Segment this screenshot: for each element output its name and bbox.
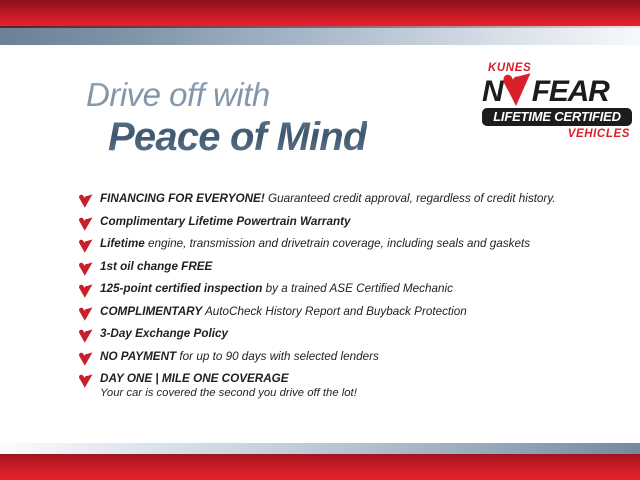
logo-banner-text: LIFETIME CERTIFIED xyxy=(493,109,621,124)
list-item: 3-Day Exchange Policy xyxy=(78,327,588,343)
top-slate-band xyxy=(0,26,640,45)
logo-no-fear-letters: NO FEAR xyxy=(482,76,609,107)
red-heart-check-icon xyxy=(78,374,93,388)
list-item-emphasis: 3-Day Exchange Policy xyxy=(100,327,228,340)
list-item-detail: Guaranteed credit approval, regardless o… xyxy=(265,192,556,205)
list-item-detail: AutoCheck History Report and Buyback Pro… xyxy=(202,305,467,318)
list-item: COMPLIMENTARY AutoCheck History Report a… xyxy=(78,305,588,321)
list-item-text: Complimentary Lifetime Powertrain Warran… xyxy=(100,215,350,228)
list-item-detail: by a trained ASE Certified Mechanic xyxy=(262,282,453,295)
heart-check-icon xyxy=(502,73,532,107)
headline-line-2: Peace of Mind xyxy=(108,117,367,157)
list-item-text: 3-Day Exchange Policy xyxy=(100,327,228,340)
list-item-emphasis: COMPLIMENTARY xyxy=(100,305,202,318)
top-red-band xyxy=(0,0,640,26)
red-heart-check-icon xyxy=(78,329,93,343)
list-item-text: DAY ONE | MILE ONE COVERAGE xyxy=(100,372,357,385)
red-heart-check-icon xyxy=(78,239,93,253)
list-item-text: NO PAYMENT for up to 90 days with select… xyxy=(100,350,379,363)
red-heart-check-icon xyxy=(78,284,93,298)
logo-word-fear: FEAR xyxy=(532,75,609,108)
list-item: Complimentary Lifetime Powertrain Warran… xyxy=(78,215,588,231)
list-item-detail: engine, transmission and drivetrain cove… xyxy=(145,237,530,250)
list-item: DAY ONE | MILE ONE COVERAGE Your car is … xyxy=(78,372,588,399)
list-item-text: 125-point certified inspection by a trai… xyxy=(100,282,453,295)
headline-line-1: Drive off with xyxy=(86,78,367,111)
kunes-no-fear-logo: KUNES NO FEAR LIFETIME CERTIFIED VEHICLE… xyxy=(482,62,632,140)
list-item-subtext: Your car is covered the second you drive… xyxy=(100,387,357,399)
red-heart-check-icon xyxy=(78,307,93,321)
logo-no-fear-wordmark: NO FEAR xyxy=(482,76,632,107)
logo-vehicles-text: VEHICLES xyxy=(482,128,630,140)
list-item: Lifetime engine, transmission and drivet… xyxy=(78,237,588,253)
list-item-text-group: DAY ONE | MILE ONE COVERAGE Your car is … xyxy=(100,372,357,399)
logo-lifetime-certified-banner: LIFETIME CERTIFIED xyxy=(482,108,632,126)
list-item-emphasis: NO PAYMENT xyxy=(100,350,176,363)
benefits-list: FINANCING FOR EVERYONE! Guaranteed credi… xyxy=(78,192,588,406)
list-item-emphasis: Lifetime xyxy=(100,237,145,250)
list-item-text: 1st oil change FREE xyxy=(100,260,212,273)
list-item-emphasis: FINANCING FOR EVERYONE! xyxy=(100,192,265,205)
logo-letter-n: N xyxy=(482,75,502,108)
red-heart-check-icon xyxy=(78,262,93,276)
list-item: FINANCING FOR EVERYONE! Guaranteed credi… xyxy=(78,192,588,208)
list-item-emphasis: Complimentary Lifetime Powertrain Warran… xyxy=(100,215,350,228)
red-heart-check-icon xyxy=(78,352,93,366)
list-item-text: FINANCING FOR EVERYONE! Guaranteed credi… xyxy=(100,192,556,205)
list-item: NO PAYMENT for up to 90 days with select… xyxy=(78,350,588,366)
list-item-emphasis: 1st oil change FREE xyxy=(100,260,212,273)
red-heart-check-icon xyxy=(78,194,93,208)
list-item-detail: for up to 90 days with selected lenders xyxy=(176,350,379,363)
bottom-slate-band xyxy=(0,443,640,454)
red-heart-check-icon xyxy=(78,217,93,231)
list-item-emphasis: 125-point certified inspection xyxy=(100,282,262,295)
list-item: 125-point certified inspection by a trai… xyxy=(78,282,588,298)
list-item-text: COMPLIMENTARY AutoCheck History Report a… xyxy=(100,305,467,318)
list-item: 1st oil change FREE xyxy=(78,260,588,276)
list-item-emphasis: DAY ONE | MILE ONE COVERAGE xyxy=(100,372,289,385)
bottom-red-band xyxy=(0,454,640,480)
headline: Drive off with Peace of Mind xyxy=(86,78,367,157)
list-item-text: Lifetime engine, transmission and drivet… xyxy=(100,237,530,250)
